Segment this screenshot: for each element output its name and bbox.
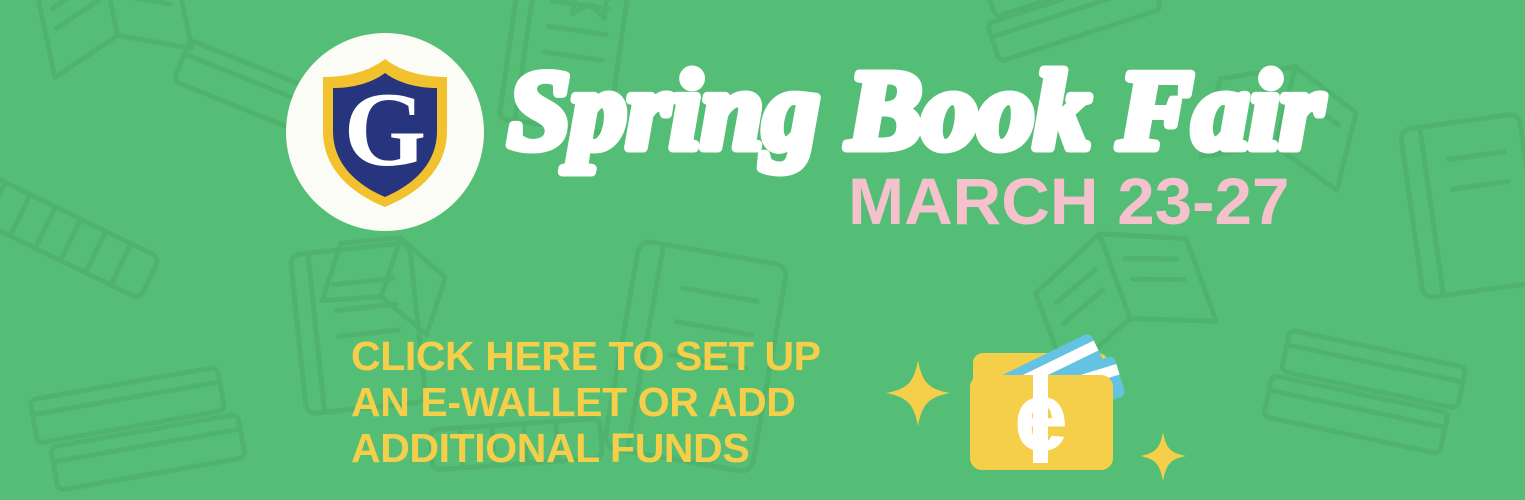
sparkle-icon-small <box>1140 432 1186 481</box>
cta-line-2: AN E-WALLET OR ADD <box>351 379 851 425</box>
e-wallet-illustration: e <box>880 320 1200 500</box>
logo-letter: G <box>344 71 426 188</box>
cta-text-block[interactable]: CLICK HERE TO SET UP AN E-WALLET OR ADD … <box>351 333 851 471</box>
event-date-text: MARCH 23-27 <box>848 166 1289 239</box>
logo[interactable]: G <box>286 33 484 231</box>
wallet-e-symbol: e <box>1014 361 1069 471</box>
cta-line-3: ADDITIONAL FUNDS <box>351 425 851 471</box>
page-title: Spring Book Fair <box>508 56 1198 174</box>
spring-book-fair-banner[interactable]: G Spring Book Fair MARCH 23-27 CLICK HER… <box>0 0 1525 500</box>
sparkle-icon-large <box>886 360 950 426</box>
event-date: MARCH 23-27 <box>848 166 1188 238</box>
headline-text: Spring Book Fair <box>508 49 1325 173</box>
shield-icon: G <box>315 57 455 209</box>
cta-line-1: CLICK HERE TO SET UP <box>351 333 851 379</box>
